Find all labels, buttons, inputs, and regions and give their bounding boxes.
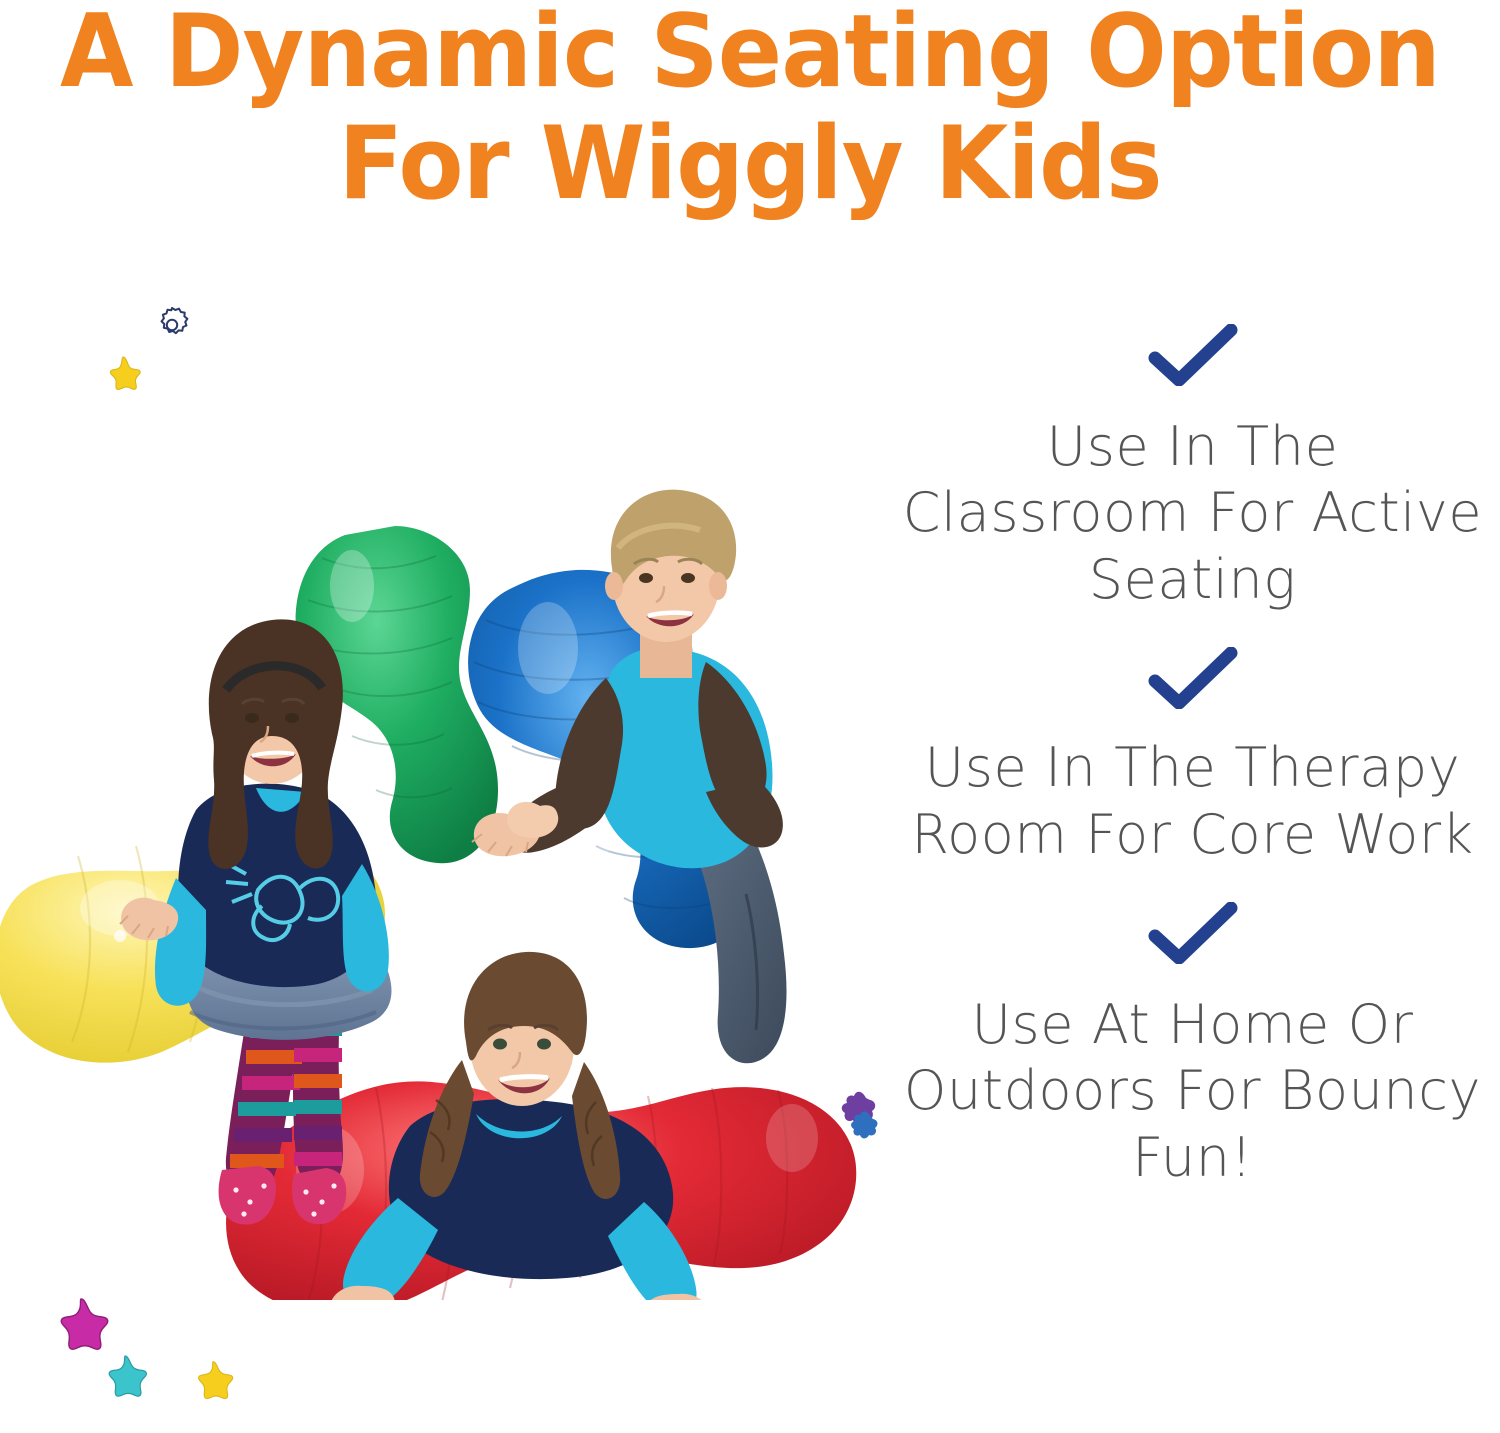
star-icon — [50, 1295, 112, 1357]
promo-graphic: A Dynamic Seating Option For Wiggly Kids — [0, 0, 1500, 1433]
checkmark-icon — [1145, 324, 1241, 386]
star-icon — [100, 1352, 150, 1402]
checkmark-icon — [1145, 902, 1241, 964]
star-icon — [190, 1358, 236, 1404]
benefit-text-2: Use In The Therapy Room For Core Work — [885, 735, 1500, 868]
benefit-item-3: Use At Home Or Outdoors For Bouncy Fun! — [885, 902, 1500, 1191]
headline-line-1: A Dynamic Seating Option — [45, 2, 1455, 101]
star-icon — [102, 354, 144, 396]
product-photo — [0, 290, 900, 1300]
checkmark-icon — [1145, 647, 1241, 709]
benefits-list: Use In The Classroom For Active Seating … — [885, 300, 1500, 1191]
headline-line-2: For Wiggly Kids — [45, 114, 1455, 213]
gear-icon — [152, 305, 192, 345]
benefit-item-2: Use In The Therapy Room For Core Work — [885, 647, 1500, 868]
benefit-text-3: Use At Home Or Outdoors For Bouncy Fun! — [885, 992, 1500, 1191]
benefit-item-1: Use In The Classroom For Active Seating — [885, 300, 1500, 613]
page-title: A Dynamic Seating Option For Wiggly Kids — [0, 0, 1500, 213]
benefit-text-1: Use In The Classroom For Active Seating — [885, 414, 1500, 613]
